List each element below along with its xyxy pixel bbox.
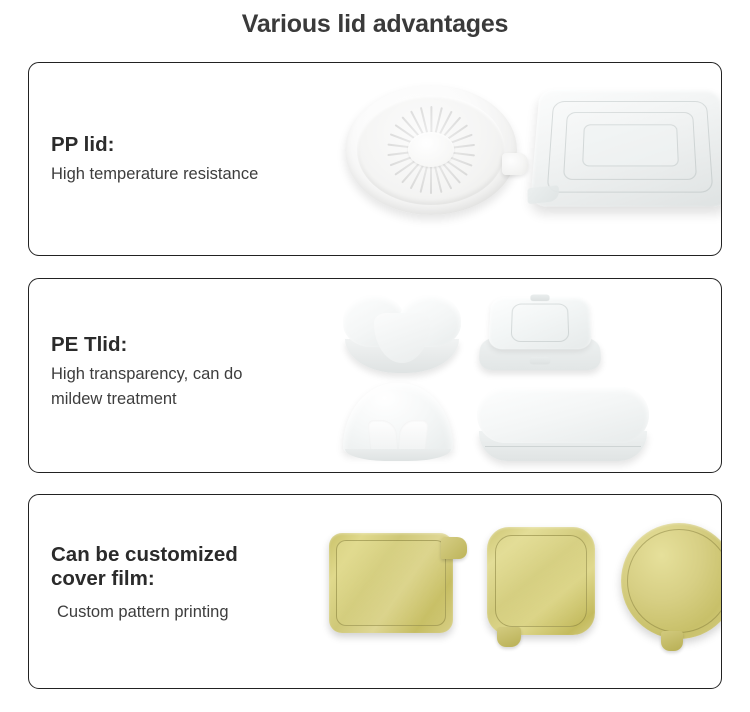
panel-cover-film-text: Can be customized cover film: Custom pat… <box>51 543 238 625</box>
round-pp-lid-image <box>345 85 517 215</box>
panel-pe-lid-images <box>329 279 721 472</box>
panel-pp-lid-description: High temperature resistance <box>51 162 258 187</box>
hemisphere-pet-dome-lid-image <box>343 383 453 461</box>
lid-dome <box>343 293 461 355</box>
gold-rectangular-foil-lid-image <box>329 533 453 633</box>
lid-notch-bottom <box>530 357 551 365</box>
foil-pull-tab <box>661 631 683 651</box>
panel-cover-film: Can be customized cover film: Custom pat… <box>28 494 722 689</box>
gold-square-foil-lid-image <box>487 527 595 635</box>
rectangular-pp-lid-image <box>530 89 722 206</box>
foil-inset-panel <box>336 540 446 626</box>
panel-cover-film-description: Custom pattern printing <box>51 600 238 625</box>
foil-inset-panel <box>495 535 587 627</box>
panel-pe-lid-text: PE Tlid: High transparency, can do milde… <box>51 333 242 412</box>
oval-pet-flat-lid-image <box>477 387 649 461</box>
lid-notch-top <box>530 295 549 302</box>
panel-pe-lid-description: High transparency, can do mildew treatme… <box>51 362 242 412</box>
panel-cover-film-images <box>329 495 721 688</box>
gold-round-foil-lid-image <box>621 523 722 639</box>
heart-shaped-pet-dome-lid-image <box>343 293 461 373</box>
lid-top <box>477 387 649 443</box>
lid-seam <box>485 446 641 447</box>
lid-cap <box>488 297 592 349</box>
panel-pp-lid-heading: PP lid: <box>51 133 258 157</box>
foil-pull-tab <box>441 537 467 559</box>
lid-cap-inner-ridge <box>511 304 570 342</box>
foil-pull-tab <box>497 627 521 647</box>
foil-inset-panel <box>627 529 722 633</box>
lid-ridge-inner <box>582 124 679 166</box>
panel-pp-lid: PP lid: High temperature resistance <box>28 62 722 256</box>
page-title: Various lid advantages <box>0 0 750 47</box>
panel-pe-lid: PE Tlid: High transparency, can do milde… <box>28 278 722 473</box>
square-pet-dome-lid-image <box>478 297 601 370</box>
panel-pe-lid-heading: PE Tlid: <box>51 333 242 357</box>
lid-pull-tab <box>502 153 528 175</box>
lid-foot <box>345 449 451 461</box>
lid-center-hub <box>408 132 454 167</box>
panel-cover-film-heading: Can be customized cover film: <box>51 543 238 591</box>
panel-pp-lid-images <box>329 63 721 255</box>
panel-pp-lid-text: PP lid: High temperature resistance <box>51 133 258 187</box>
